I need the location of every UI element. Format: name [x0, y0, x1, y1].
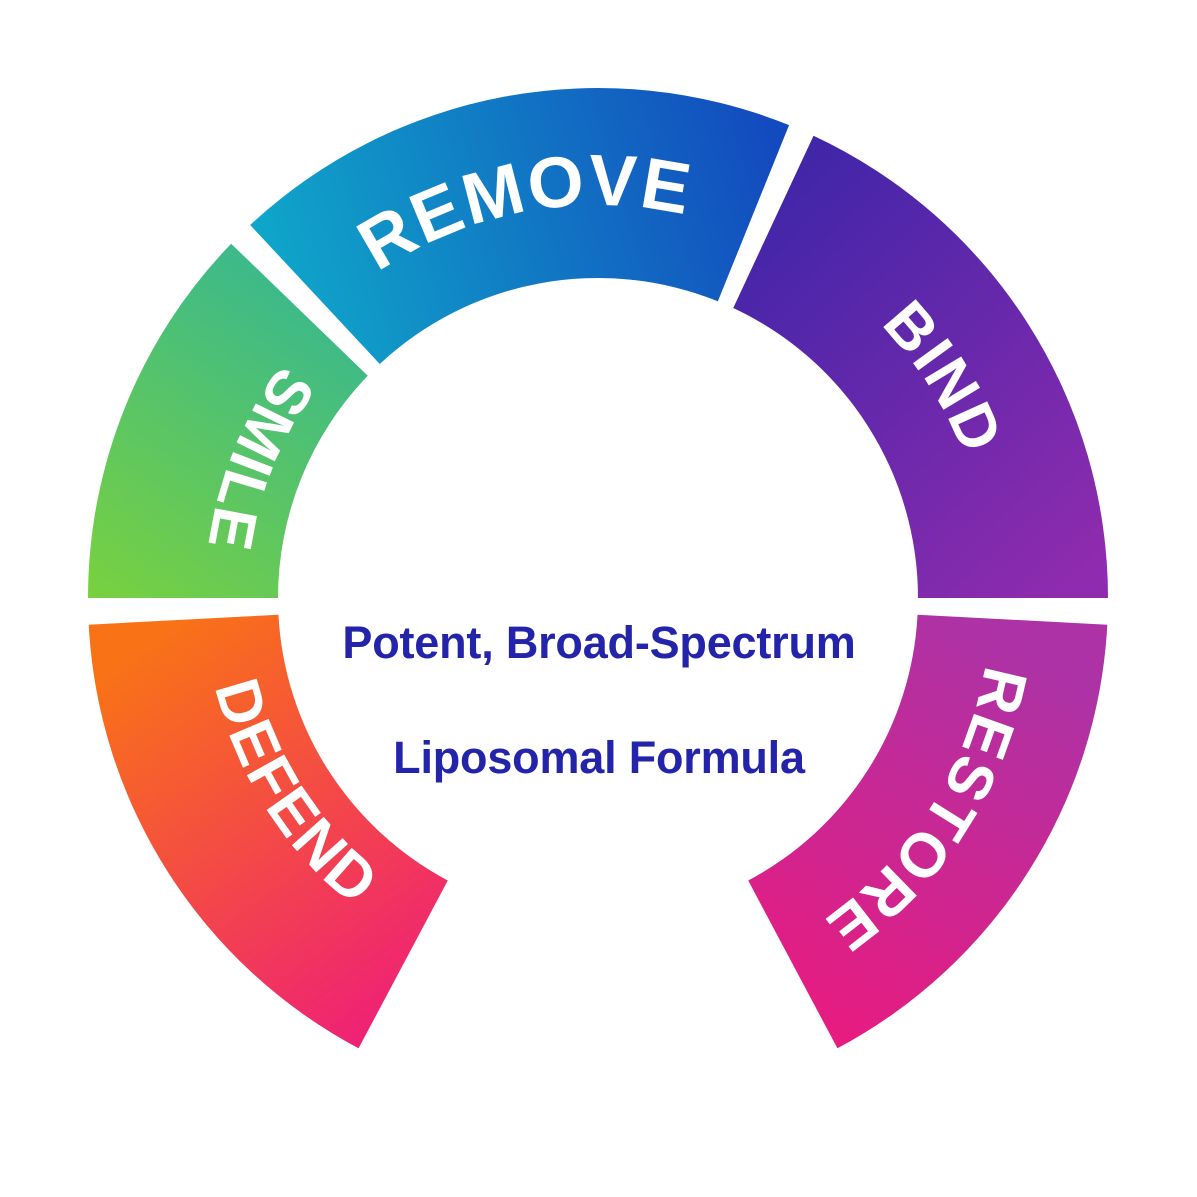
infographic-canvas: REMOVE BIND RESTORE SMILE DEFEND Potent,… [0, 0, 1197, 1197]
center-caption-line2: Liposomal Formula [299, 729, 899, 787]
center-caption: Potent, Broad-Spectrum Liposomal Formula [299, 556, 899, 844]
center-caption-line1: Potent, Broad-Spectrum [299, 614, 899, 672]
